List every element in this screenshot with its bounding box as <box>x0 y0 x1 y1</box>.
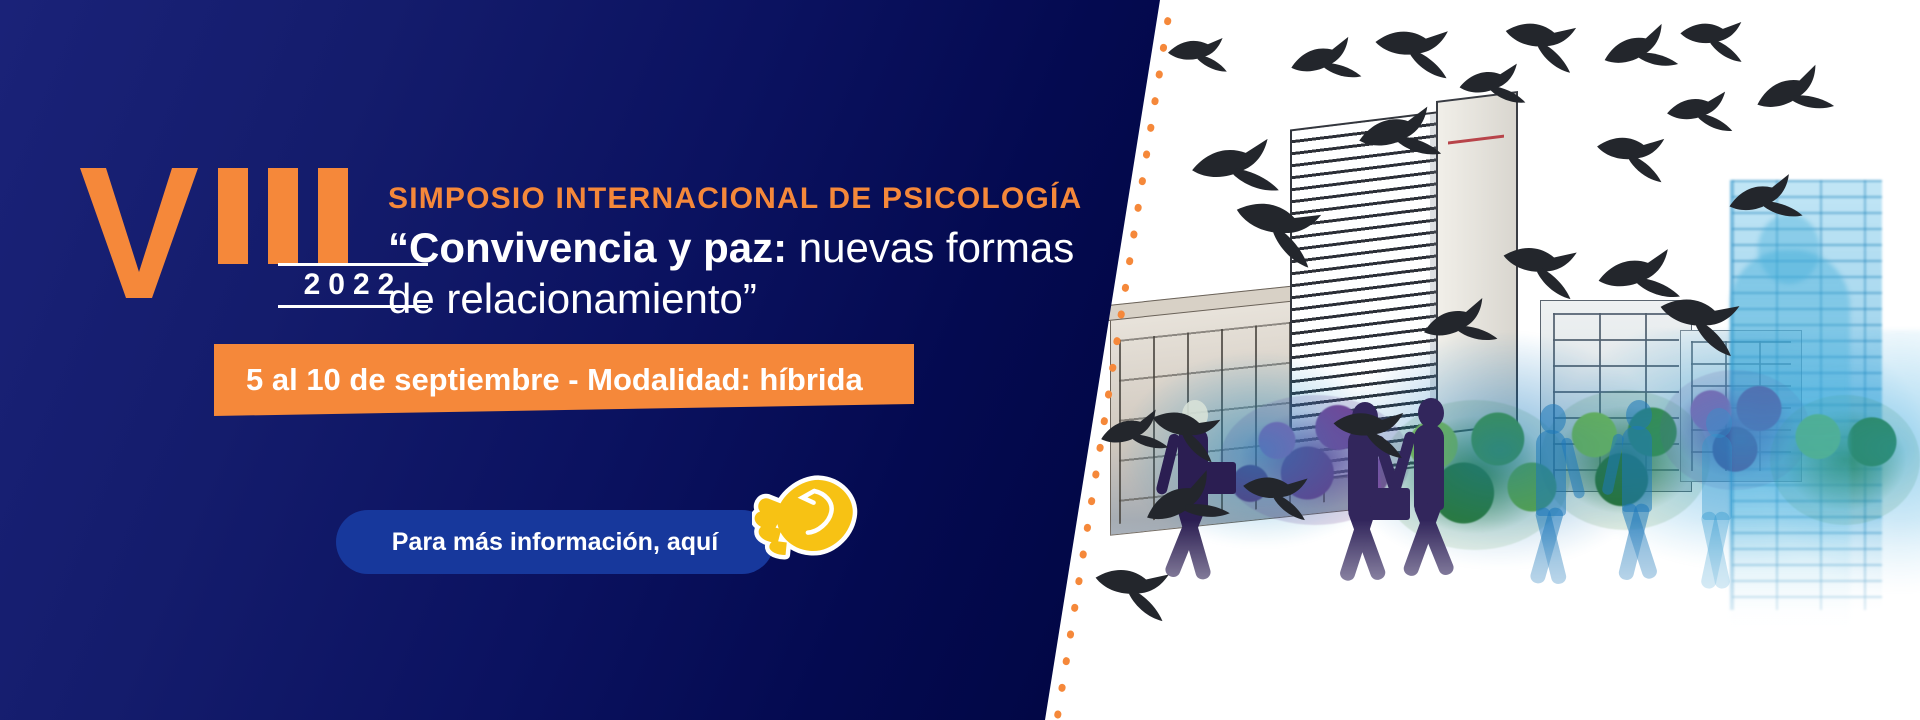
more-info-button[interactable]: Para más información, aquí <box>336 510 774 574</box>
date-banner: 5 al 10 de septiembre - Modalidad: híbri… <box>214 344 914 416</box>
event-kicker: SIMPOSIO INTERNACIONAL DE PSICOLOGÍA <box>388 182 1082 216</box>
letter-i-bar-3 <box>318 168 348 264</box>
event-headline: “Convivencia y paz: nuevas formas de rel… <box>388 222 1088 324</box>
headline-quoted-bold: “Convivencia y paz: <box>388 224 787 271</box>
event-promo-banner: 2022 SIMPOSIO INTERNACIONAL DE PSICOLOGÍ… <box>0 0 1920 720</box>
collage-layers <box>1040 0 1920 720</box>
pigeon-flock <box>1040 0 1920 720</box>
artwork-photo-collage <box>1040 0 1920 720</box>
more-info-button-label: Para más información, aquí <box>392 528 719 557</box>
date-banner-text: 5 al 10 de septiembre - Modalidad: híbri… <box>214 362 863 398</box>
headline-rest-line2: de relacionamiento” <box>388 275 757 322</box>
letter-i-bar-2 <box>268 168 298 264</box>
pointing-hand-icon[interactable] <box>752 460 870 578</box>
logo-viii-2022: 2022 <box>80 168 380 298</box>
headline-rest-line1: nuevas formas <box>787 224 1074 271</box>
letter-v-shape <box>80 168 198 298</box>
letter-i-bar-1 <box>218 168 248 264</box>
